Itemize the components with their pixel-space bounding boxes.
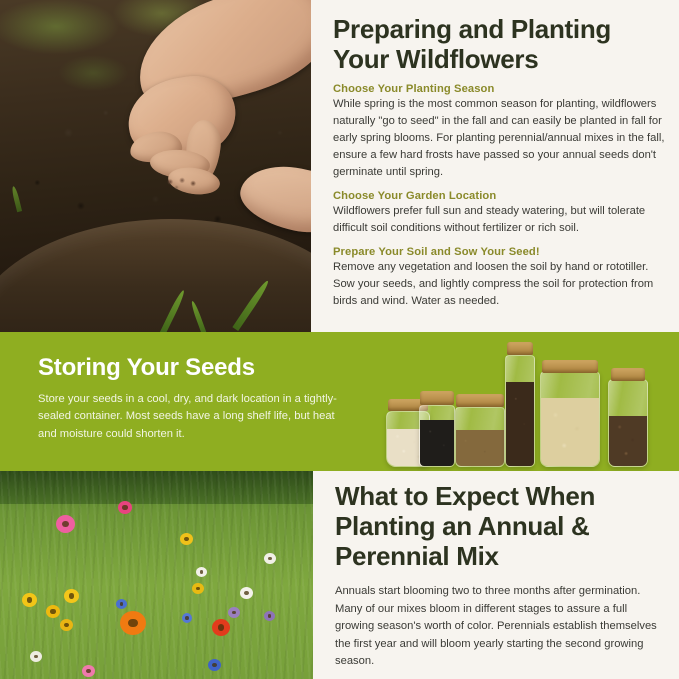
flower-white-daisy [264,553,276,564]
jar-cream-pumpkin-seeds [540,371,600,467]
flower-blue-cornflower [116,599,127,609]
storing-seeds-heading: Storing Your Seeds [38,354,338,382]
subheading-prepare-soil: Prepare Your Soil and Sow Your Seed! [333,246,671,258]
infographic-page: Preparing and Planting Your Wildflowers … [0,0,679,679]
flower-yellow-coreopsis [64,589,79,603]
jar-black-seeds [419,405,455,467]
body-prepare-soil: Remove any vegetation and loosen the soi… [333,259,671,310]
body-planting-season: While spring is the most common season f… [333,96,671,181]
flower-blue-cornflower [182,613,192,623]
hands-planting-seeds-image [0,0,311,332]
top-text-column: Preparing and Planting Your Wildflowers … [311,0,679,332]
bottom-body: Annuals start blooming two to three mont… [335,583,669,670]
jar-contents [609,416,647,466]
cork-lid-icon [456,394,504,407]
jar-contents [420,420,454,466]
body-garden-location: Wildflowers prefer full sun and steady w… [333,203,671,237]
jar-contents [506,382,534,466]
flower-yellow-coreopsis [46,605,60,618]
top-heading: Preparing and Planting Your Wildflowers [333,14,671,74]
flower-pink-cosmos [118,501,132,514]
subheading-garden-location: Choose Your Garden Location [333,190,671,202]
jar-contents [456,430,504,466]
flower-purple-scabiosa [264,611,275,621]
subheading-planting-season: Choose Your Planting Season [333,83,671,95]
flower-orange-poppy [120,611,146,635]
bottom-text-column: What to Expect When Planting an Annual &… [313,471,679,679]
jar-brown-grain [455,407,505,467]
storing-seeds-text: Storing Your Seeds Store your seeds in a… [38,354,338,443]
storing-seeds-body: Store your seeds in a cool, dry, and dar… [38,391,338,443]
cork-lid-icon [542,360,598,373]
seeds-in-hand [160,172,206,194]
jar-mixed-seeds [608,379,648,467]
flower-white-daisy [196,567,207,577]
flower-yellow-coreopsis [60,619,73,631]
jar-tall-dark-seeds [505,355,535,467]
bottom-heading: What to Expect When Planting an Annual &… [335,481,669,571]
wildflower-meadow-image [0,471,313,679]
flower-white-daisy [30,651,42,662]
bottom-section: What to Expect When Planting an Annual &… [0,471,679,679]
flower-yellow-coreopsis [180,533,193,545]
flower-yellow-coreopsis [22,593,37,607]
glass-jars-of-seeds-image [380,338,679,471]
flower-white-daisy [240,587,253,599]
storing-seeds-section: Storing Your Seeds Store your seeds in a… [0,332,679,471]
flower-pink-cosmos [82,665,95,677]
cork-lid-icon [420,391,454,405]
flower-purple-scabiosa [228,607,240,618]
flower-pink-cosmos [56,515,75,533]
grass-texture [0,471,313,679]
top-section: Preparing and Planting Your Wildflowers … [0,0,679,332]
jar-contents [541,398,599,466]
flower-red-poppy [212,619,230,636]
cork-lid-icon [507,342,533,355]
flower-blue-cornflower [208,659,221,671]
cork-lid-icon [611,368,645,381]
flower-yellow-coreopsis [192,583,204,594]
